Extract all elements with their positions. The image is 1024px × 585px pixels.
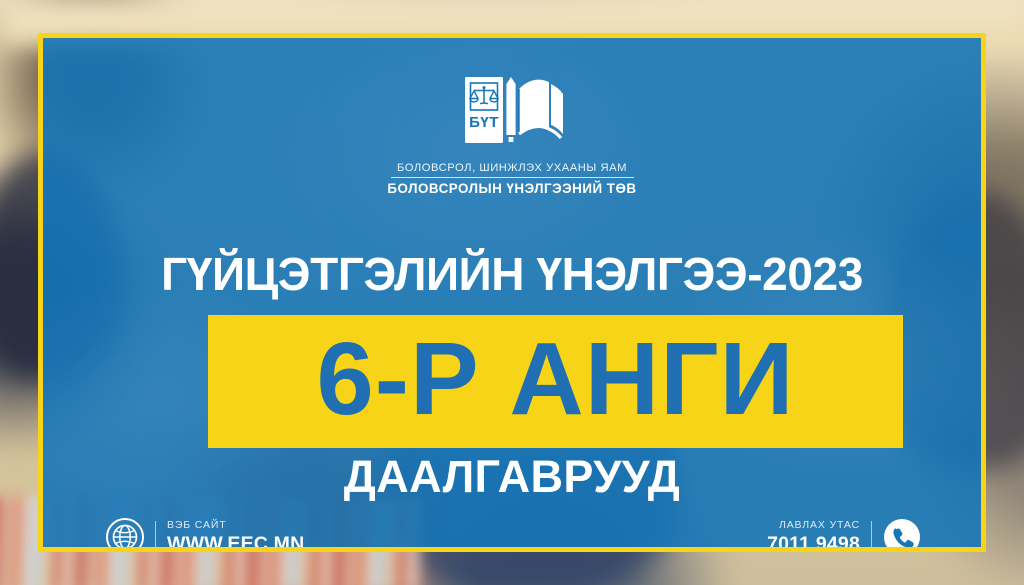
website-value[interactable]: WWW.EEC.MN: [167, 535, 304, 553]
grade-label: 6-Р АНГИ: [316, 327, 794, 430]
grade-band: 6-Р АНГИ: [208, 315, 903, 448]
phone-value[interactable]: 7011 9498: [767, 535, 860, 553]
headline: ГҮЙЦЭТГЭЛИЙН ҮНЭЛГЭЭ-2023: [43, 247, 981, 301]
phone-text: ЛАВЛАХ УТАС 7011 9498: [767, 520, 860, 552]
phone-icon: [883, 518, 921, 552]
footer-divider-left: [155, 521, 156, 553]
poster-root: БҮТ БОЛОВСРОЛ, ШИНЖЛЭХ УХААНЫ ЯАМ БОЛОВС…: [0, 0, 1024, 585]
logo-divider: [391, 177, 634, 178]
footer-website[interactable]: ВЭБ САЙТ WWW.EEC.MN: [106, 518, 304, 552]
subtitle: ДААЛГАВРУУД: [43, 451, 981, 503]
globe-icon: [106, 518, 144, 552]
but-emblem-icon: БҮТ: [456, 71, 568, 155]
phone-label: ЛАВЛАХ УТАС: [767, 520, 860, 531]
logo-block: БҮТ БОЛОВСРОЛ, ШИНЖЛЭХ УХААНЫ ЯАМ БОЛОВС…: [43, 71, 981, 196]
center-name: БОЛОВСРОЛЫН ҮНЭЛГЭЭНИЙ ТӨВ: [387, 181, 636, 196]
website-label: ВЭБ САЙТ: [167, 520, 304, 531]
website-text: ВЭБ САЙТ WWW.EEC.MN: [167, 520, 304, 552]
footer-phone[interactable]: ЛАВЛАХ УТАС 7011 9498: [767, 518, 921, 552]
poster-card: БҮТ БОЛОВСРОЛ, ШИНЖЛЭХ УХААНЫ ЯАМ БОЛОВС…: [38, 33, 986, 552]
svg-text:БҮТ: БҮТ: [469, 114, 499, 131]
ministry-name: БОЛОВСРОЛ, ШИНЖЛЭХ УХААНЫ ЯАМ: [397, 162, 627, 174]
footer-divider-right: [871, 521, 872, 553]
